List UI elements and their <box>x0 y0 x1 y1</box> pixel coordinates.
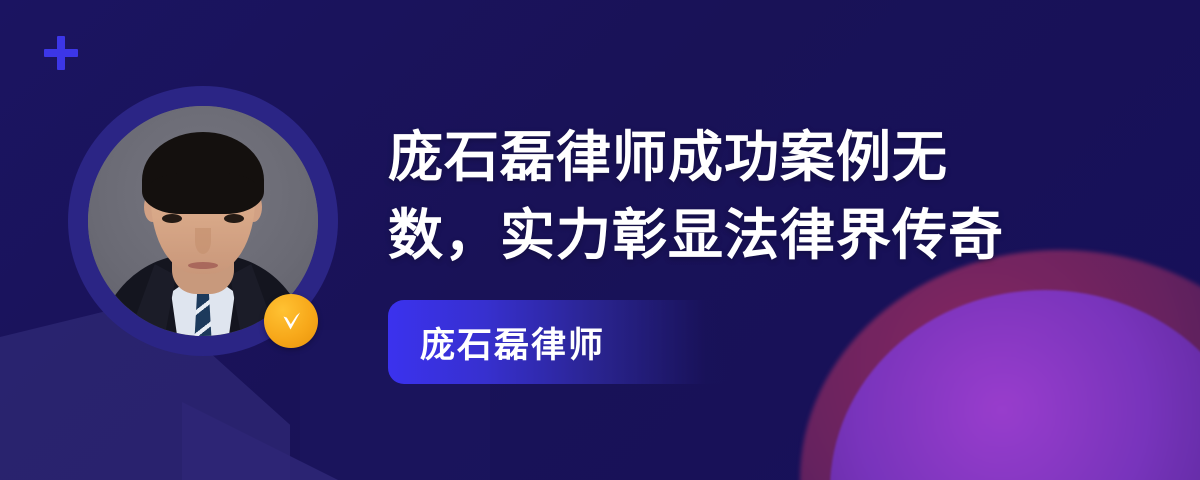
text-content: 庞石磊律师成功案例无 数，实力彰显法律界传奇 庞石磊律师 <box>388 118 1178 274</box>
portrait-nose <box>195 228 211 254</box>
lawyer-promo-banner: 庞石磊律师成功案例无 数，实力彰显法律界传奇 庞石磊律师 <box>0 0 1200 480</box>
plus-icon <box>44 36 78 70</box>
avatar <box>68 86 338 386</box>
lawyer-name-label: 庞石磊律师 <box>388 317 605 368</box>
lawyer-name-pill[interactable]: 庞石磊律师 <box>388 300 733 384</box>
page-title: 庞石磊律师成功案例无 数，实力彰显法律界传奇 <box>388 118 1178 274</box>
portrait-mouth <box>188 262 218 269</box>
portrait-eye-right <box>224 214 244 223</box>
portrait-eye-left <box>162 214 182 223</box>
verified-check-icon <box>264 294 318 348</box>
